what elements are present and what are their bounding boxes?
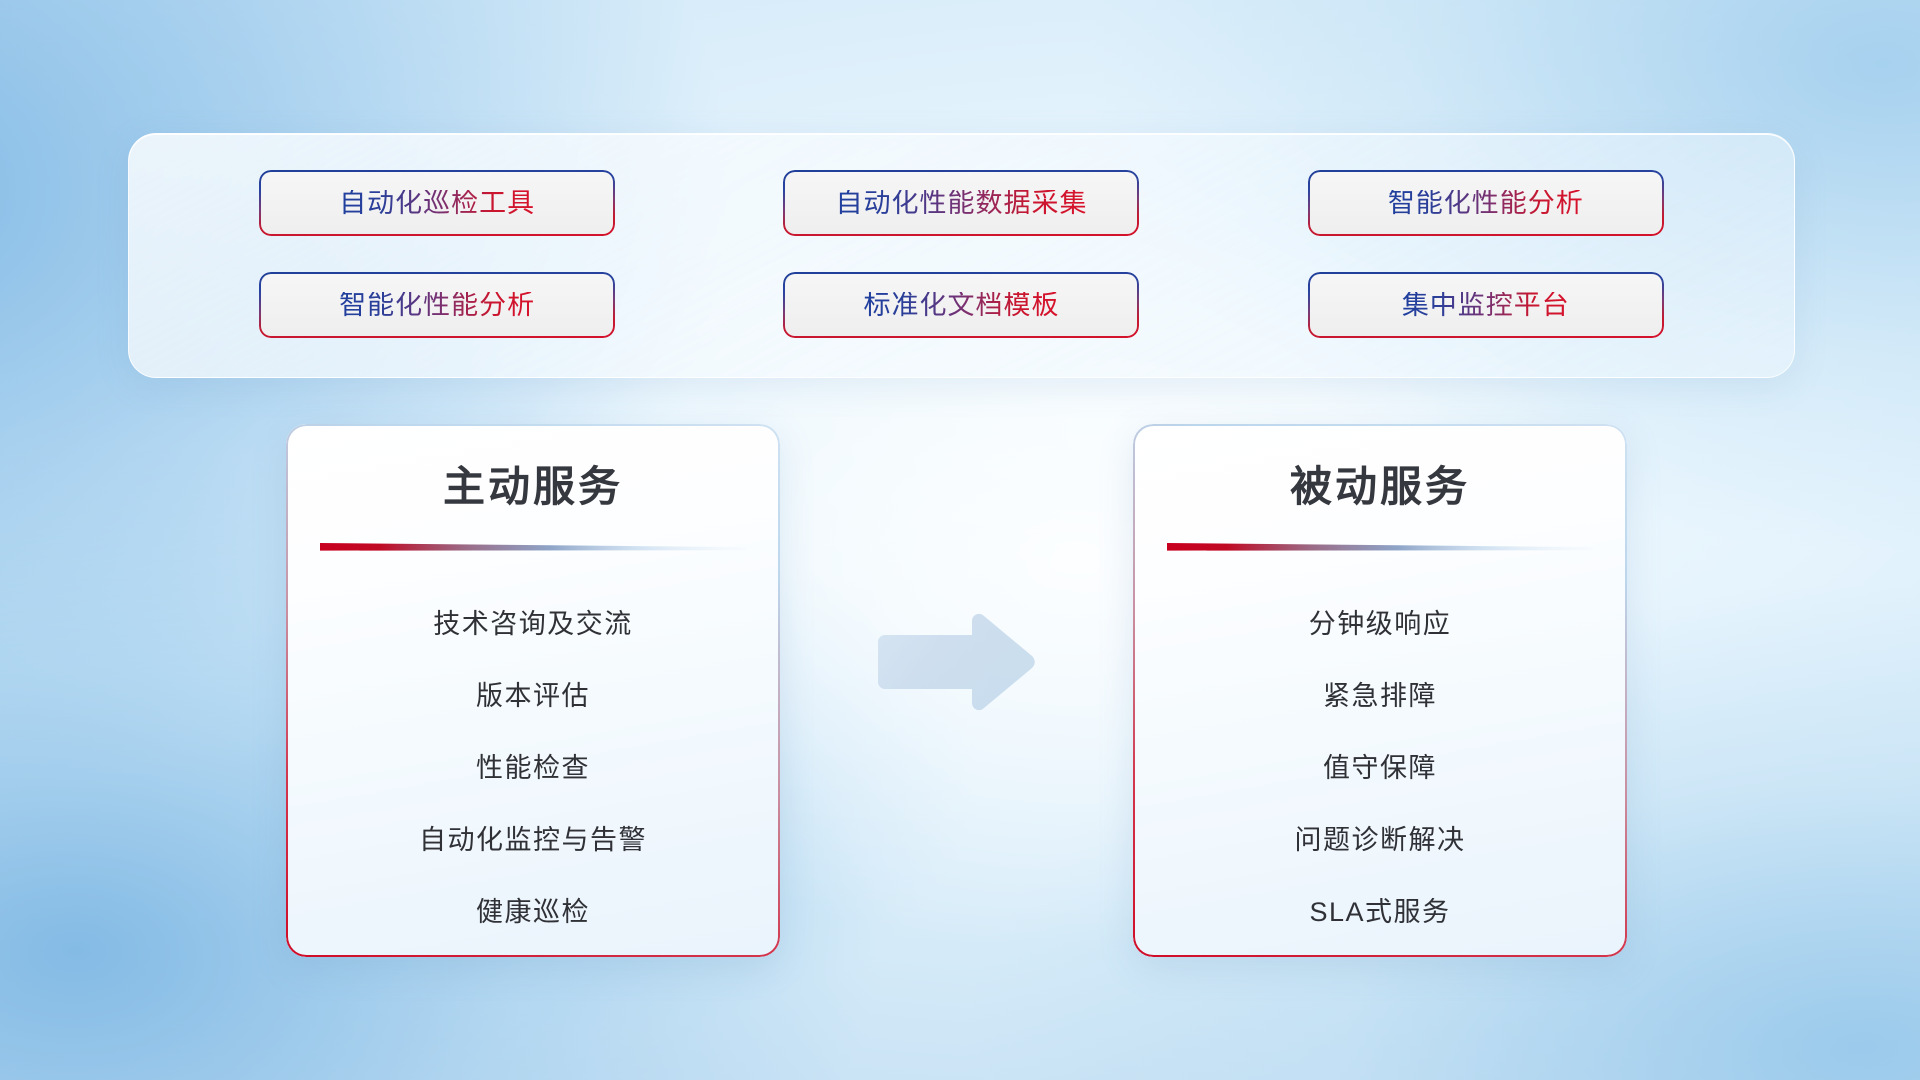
capability-tag-label: 自动化巡检工具 xyxy=(339,190,535,217)
capability-tag-label: 自动化性能数据采集 xyxy=(835,190,1087,217)
list-item: SLA式服务 xyxy=(1309,876,1450,948)
capability-tag-centralized-monitoring-platform[interactable]: 集中监控平台 xyxy=(1308,272,1664,338)
list-item: 版本评估 xyxy=(476,660,590,732)
card-title-divider xyxy=(320,541,746,553)
capability-tag-automated-inspection-tool[interactable]: 自动化巡检工具 xyxy=(259,170,615,236)
capability-tag-label: 集中监控平台 xyxy=(1402,292,1570,319)
capability-tag-intelligent-performance-analysis-top[interactable]: 智能化性能分析 xyxy=(1308,170,1664,236)
capability-tag-label: 标准化文档模板 xyxy=(863,292,1059,319)
list-item: 值守保障 xyxy=(1323,732,1437,804)
list-item: 分钟级响应 xyxy=(1309,588,1452,660)
capability-tag-intelligent-performance-analysis-bottom[interactable]: 智能化性能分析 xyxy=(259,272,615,338)
list-item: 技术咨询及交流 xyxy=(433,588,633,660)
capability-tag-label: 智能化性能分析 xyxy=(1388,190,1584,217)
service-card-list: 分钟级响应 紧急排障 值守保障 问题诊断解决 SLA式服务 xyxy=(1133,588,1627,948)
service-card-title: 被动服务 xyxy=(1133,466,1627,508)
list-item: 健康巡检 xyxy=(476,876,590,948)
service-card-title: 主动服务 xyxy=(286,466,780,508)
list-item: 性能检查 xyxy=(476,732,590,804)
card-title-divider xyxy=(1167,541,1593,553)
capability-tag-label: 智能化性能分析 xyxy=(339,292,535,319)
capability-tags-panel: 自动化巡检工具 自动化性能数据采集 智能化性能分析 智能化性能分析 标准化文档模… xyxy=(128,133,1795,378)
list-item: 问题诊断解决 xyxy=(1295,804,1466,876)
service-card-list: 技术咨询及交流 版本评估 性能检查 自动化监控与告警 健康巡检 xyxy=(286,588,780,948)
service-card-proactive[interactable]: 主动服务 技术咨询及交流 版本评估 性能检查 自动化监控与告警 健康巡检 xyxy=(286,424,780,957)
arrow-right-icon xyxy=(872,612,1040,712)
capability-tag-grid: 自动化巡检工具 自动化性能数据采集 智能化性能分析 智能化性能分析 标准化文档模… xyxy=(129,134,1794,377)
service-card-reactive[interactable]: 被动服务 分钟级响应 紧急排障 值守保障 问题诊断解决 SLA式服务 xyxy=(1133,424,1627,957)
list-item: 自动化监控与告警 xyxy=(419,804,647,876)
list-item: 紧急排障 xyxy=(1323,660,1437,732)
capability-tag-standardized-document-template[interactable]: 标准化文档模板 xyxy=(783,272,1139,338)
capability-tag-automated-performance-data-collection[interactable]: 自动化性能数据采集 xyxy=(783,170,1139,236)
